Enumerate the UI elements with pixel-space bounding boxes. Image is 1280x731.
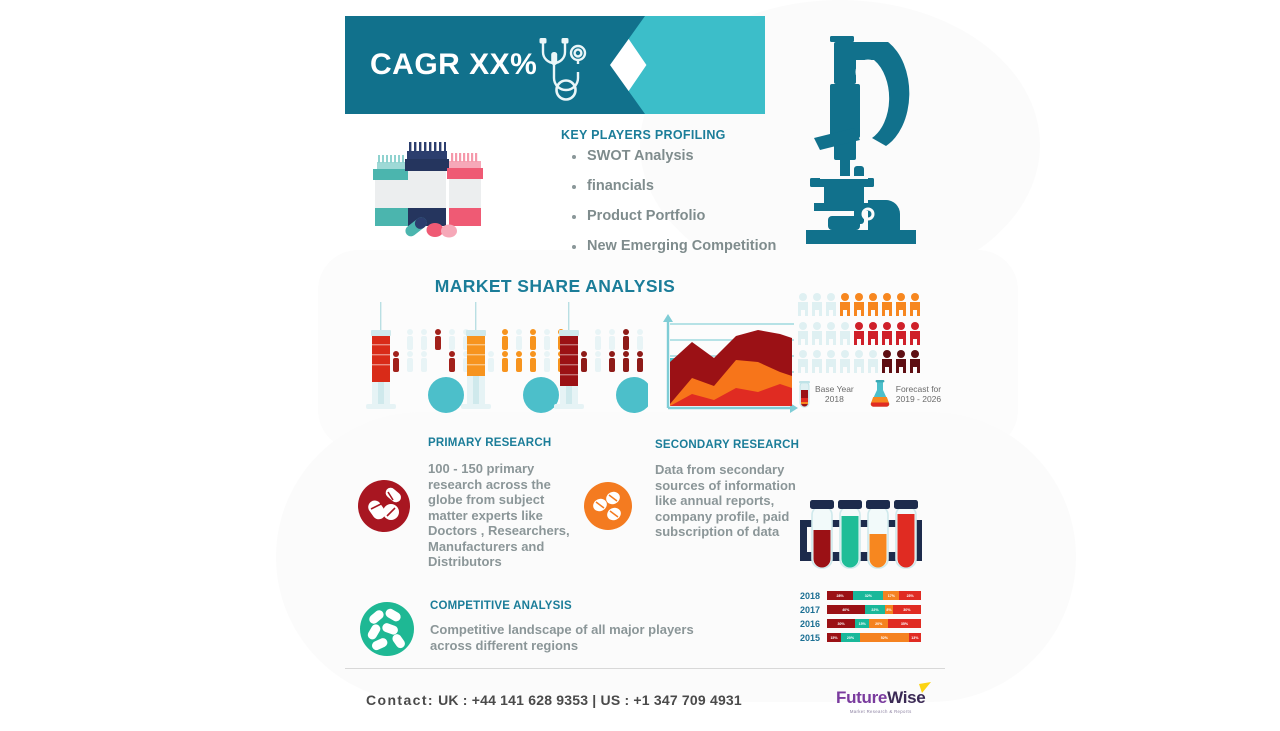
pills-circle-icon	[358, 480, 410, 532]
ribbon-dark-tip	[610, 16, 645, 114]
background-blob-bottom	[276, 412, 1076, 702]
syringes-people-icon	[358, 302, 648, 417]
primary-research-body: 100 - 150 primary research across the gl…	[428, 461, 580, 570]
table-row: 2016 30% 15% 20% 35%	[800, 618, 921, 629]
list-item: financials	[561, 178, 801, 194]
bar-category-label: 2017	[800, 605, 827, 615]
pill-bottles-icon	[363, 138, 503, 248]
header-ribbon: CAGR XX%	[345, 16, 765, 114]
secondary-research-body: Data from secondary sources of informati…	[655, 462, 805, 540]
tablets-circle-icon	[584, 482, 632, 530]
market-share-title: MARKET SHARE ANALYSIS	[345, 276, 765, 297]
bar-track: 28% 32% 17% 23%	[827, 591, 921, 600]
bar-segment: 15%	[827, 633, 841, 642]
bar-segment: 30%	[893, 605, 921, 614]
bar-segment: 17%	[883, 591, 899, 600]
bar-segment: 22%	[865, 605, 886, 614]
logo-text-future: Future	[836, 688, 887, 707]
bar-segment: 35%	[888, 619, 921, 628]
secondary-research-title: SECONDARY RESEARCH	[655, 439, 799, 451]
competitive-analysis-title: COMPETITIVE ANALYSIS	[430, 600, 572, 612]
primary-research-title: PRIMARY RESEARCH	[428, 437, 551, 449]
test-tube-rack-icon	[798, 492, 924, 576]
bar-track: 30% 15% 20% 35%	[827, 619, 921, 628]
competitive-analysis-body: Competitive landscape of all major playe…	[430, 622, 710, 653]
arrow-accent-icon	[918, 682, 932, 696]
bar-track: 40% 22% 8% 30%	[827, 605, 921, 614]
bar-segment: 8%	[885, 605, 893, 614]
capsules-circle-icon	[360, 602, 414, 656]
list-item: SWOT Analysis	[561, 148, 801, 164]
key-players-title: KEY PLAYERS PROFILING	[561, 128, 726, 142]
footer-divider	[345, 668, 945, 669]
test-tube-icon	[798, 381, 811, 408]
bar-segment: 52%	[860, 633, 909, 642]
bar-segment: 28%	[827, 591, 853, 600]
contact-line: Contact: UK : +44 141 628 9353 | US : +1…	[366, 692, 742, 708]
stethoscope-icon	[535, 36, 597, 102]
infographic-canvas: CAGR XX%	[0, 0, 1280, 731]
futurewise-logo[interactable]: FutureWise Market Research & Reports	[836, 688, 925, 714]
bar-category-label: 2018	[800, 591, 827, 601]
microscope-icon	[806, 20, 926, 248]
table-row: 2015 15% 20% 52% 13%	[800, 632, 921, 643]
table-row: 2018 28% 32% 17% 23%	[800, 590, 921, 601]
contact-value: UK : +44 141 628 9353 | US : +1 347 709 …	[438, 692, 742, 708]
bar-segment: 15%	[855, 619, 869, 628]
cagr-label: CAGR XX%	[370, 48, 537, 82]
legend-item-forecast: Forecast for 2019 - 2026	[868, 380, 941, 408]
bar-category-label: 2016	[800, 619, 827, 629]
market-share-legend: Base Year 2018 Forecast for 2019 - 2026	[798, 380, 941, 408]
table-row: 2017 40% 22% 8% 30%	[800, 604, 921, 615]
bar-segment: 20%	[841, 633, 860, 642]
bar-segment: 23%	[899, 591, 921, 600]
list-item: Product Portfolio	[561, 208, 801, 224]
list-item: New Emerging Competition	[561, 238, 801, 254]
bar-track: 15% 20% 52% 13%	[827, 633, 921, 642]
flask-icon	[868, 380, 892, 408]
area-chart-icon	[652, 300, 800, 418]
key-players-list: SWOT Analysis financials Product Portfol…	[561, 148, 801, 268]
legend-item-base-year: Base Year 2018	[798, 381, 854, 408]
bar-segment: 20%	[869, 619, 888, 628]
bar-category-label: 2015	[800, 633, 827, 643]
people-pictogram-icon	[796, 292, 926, 376]
logo-tagline: Market Research & Reports	[836, 709, 925, 714]
stacked-bar-chart: 2018 28% 32% 17% 23% 2017 40% 22% 8% 30%…	[800, 590, 921, 646]
contact-label: Contact:	[366, 692, 434, 708]
legend-base-year-label: Base Year 2018	[815, 384, 854, 404]
bar-segment: 13%	[909, 633, 921, 642]
bar-segment: 30%	[827, 619, 855, 628]
bar-segment: 40%	[827, 605, 865, 614]
legend-forecast-label: Forecast for 2019 - 2026	[896, 384, 941, 404]
bar-segment: 32%	[853, 591, 883, 600]
